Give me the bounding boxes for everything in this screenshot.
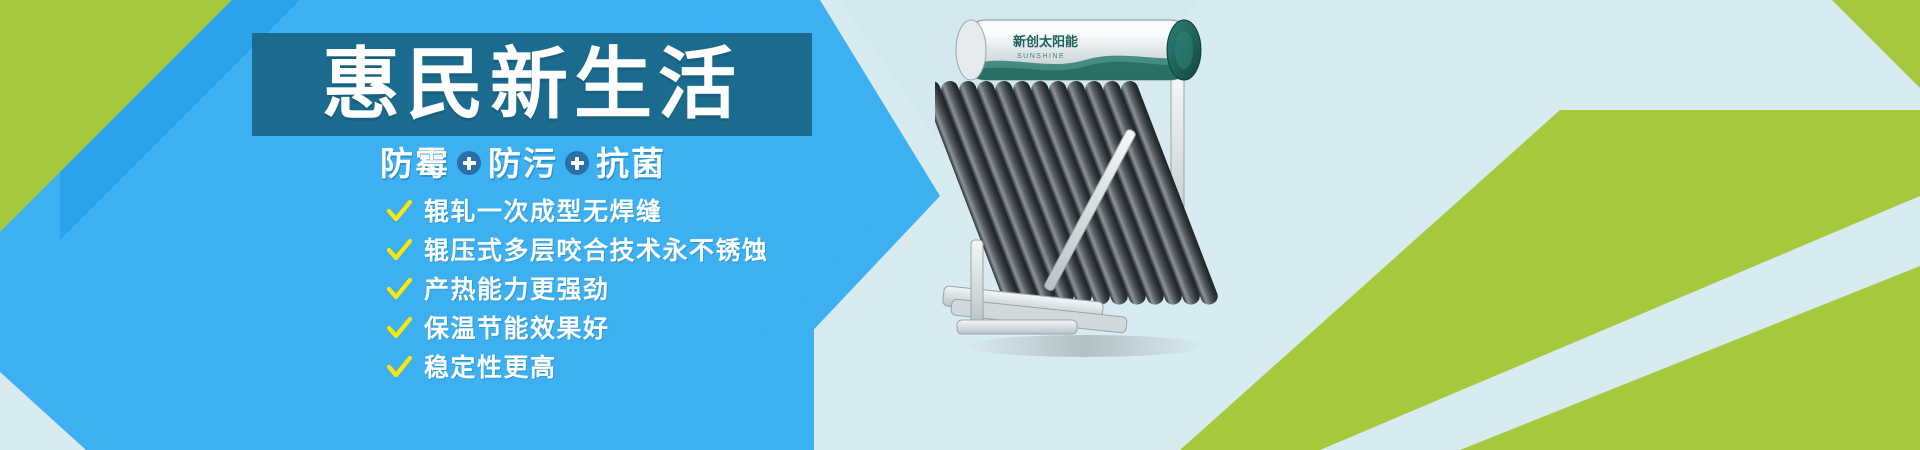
list-item: 产热能力更强劲	[386, 272, 769, 306]
list-item-label: 辊压式多层咬合技术永不锈蚀	[424, 238, 769, 263]
water-tank: 新创太阳能 SUNSHINE	[956, 20, 1203, 82]
promo-banner: 惠民新生活 防霉 防污 抗菌 辊轧一次成型无焊缝 辊压式多层咬合技术永不锈蚀 产…	[0, 0, 1920, 450]
solar-water-heater-illustration: 新创太阳能 SUNSHINE	[935, 8, 1265, 358]
feature-list: 辊轧一次成型无焊缝 辊压式多层咬合技术永不锈蚀 产热能力更强劲 保温节能效果好	[386, 194, 769, 384]
plus-icon	[565, 151, 589, 175]
subtitle-word-2: 防污	[488, 147, 558, 180]
subtitle-word-3: 抗菌	[596, 147, 666, 180]
list-item: 辊轧一次成型无焊缝	[386, 194, 769, 228]
tank-end-cap-left	[956, 20, 986, 80]
list-item: 辊压式多层咬合技术永不锈蚀	[386, 233, 769, 267]
check-icon	[386, 198, 412, 224]
plus-icon	[457, 151, 481, 175]
title-box: 惠民新生活	[252, 33, 812, 136]
page-title: 惠民新生活	[322, 46, 742, 124]
check-icon	[386, 354, 412, 380]
check-icon	[386, 315, 412, 341]
list-item: 稳定性更高	[386, 350, 769, 384]
list-item-label: 稳定性更高	[424, 355, 557, 380]
check-icon	[386, 276, 412, 302]
product-image: 新创太阳能 SUNSHINE	[935, 8, 1265, 358]
subtitle-row: 防霉 防污 抗菌	[380, 142, 666, 184]
subtitle-word-1: 防霉	[380, 147, 450, 180]
list-item-label: 产热能力更强劲	[424, 277, 610, 302]
tank-brand-text: 新创太阳能	[1013, 34, 1078, 50]
list-item-label: 辊轧一次成型无焊缝	[424, 199, 663, 224]
list-item: 保温节能效果好	[386, 311, 769, 345]
list-item-label: 保温节能效果好	[424, 316, 610, 341]
check-icon	[386, 237, 412, 263]
ground-shadow	[965, 335, 1205, 357]
tank-sub-text: SUNSHINE	[1017, 53, 1065, 60]
